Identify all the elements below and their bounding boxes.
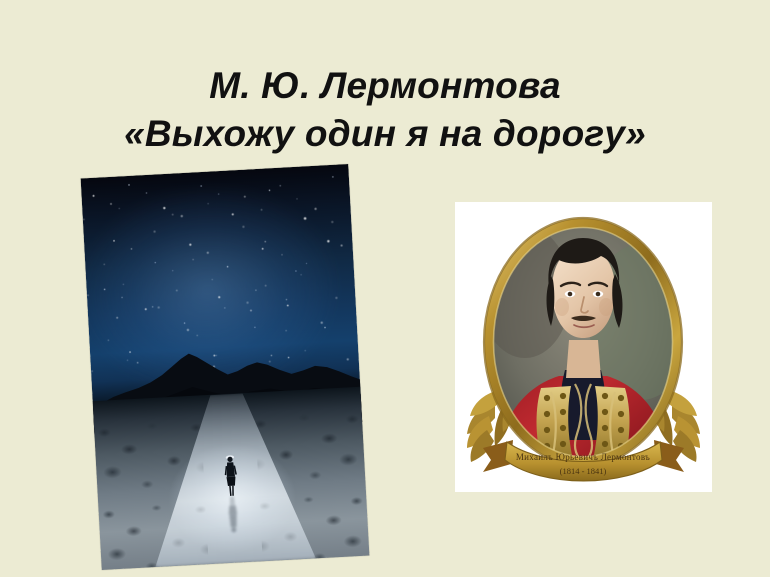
night-sky-canvas bbox=[81, 164, 370, 570]
banner-name: Михаилъ Юрьевичъ Лермонтовъ bbox=[516, 452, 650, 462]
slide-canvas: М. Ю. Лермонтова «Выхожу один я на дорог… bbox=[0, 0, 770, 577]
banner-dates: (1814 - 1841) bbox=[560, 466, 607, 476]
lone-figure bbox=[222, 453, 239, 498]
image-night-road bbox=[81, 164, 370, 570]
title-line-poem: «Выхожу один я на дорогу» bbox=[0, 109, 770, 159]
title-line-author: М. Ю. Лермонтова bbox=[0, 62, 770, 109]
portrait-artwork: Михаилъ Юрьевичъ Лермонтовъ (1814 - 1841… bbox=[455, 202, 712, 492]
page-title: М. Ю. Лермонтова «Выхожу один я на дорог… bbox=[0, 62, 770, 159]
figure-reflection bbox=[225, 496, 242, 537]
image-lermontov-portrait: Михаилъ Юрьевичъ Лермонтовъ (1814 - 1841… bbox=[455, 202, 712, 492]
